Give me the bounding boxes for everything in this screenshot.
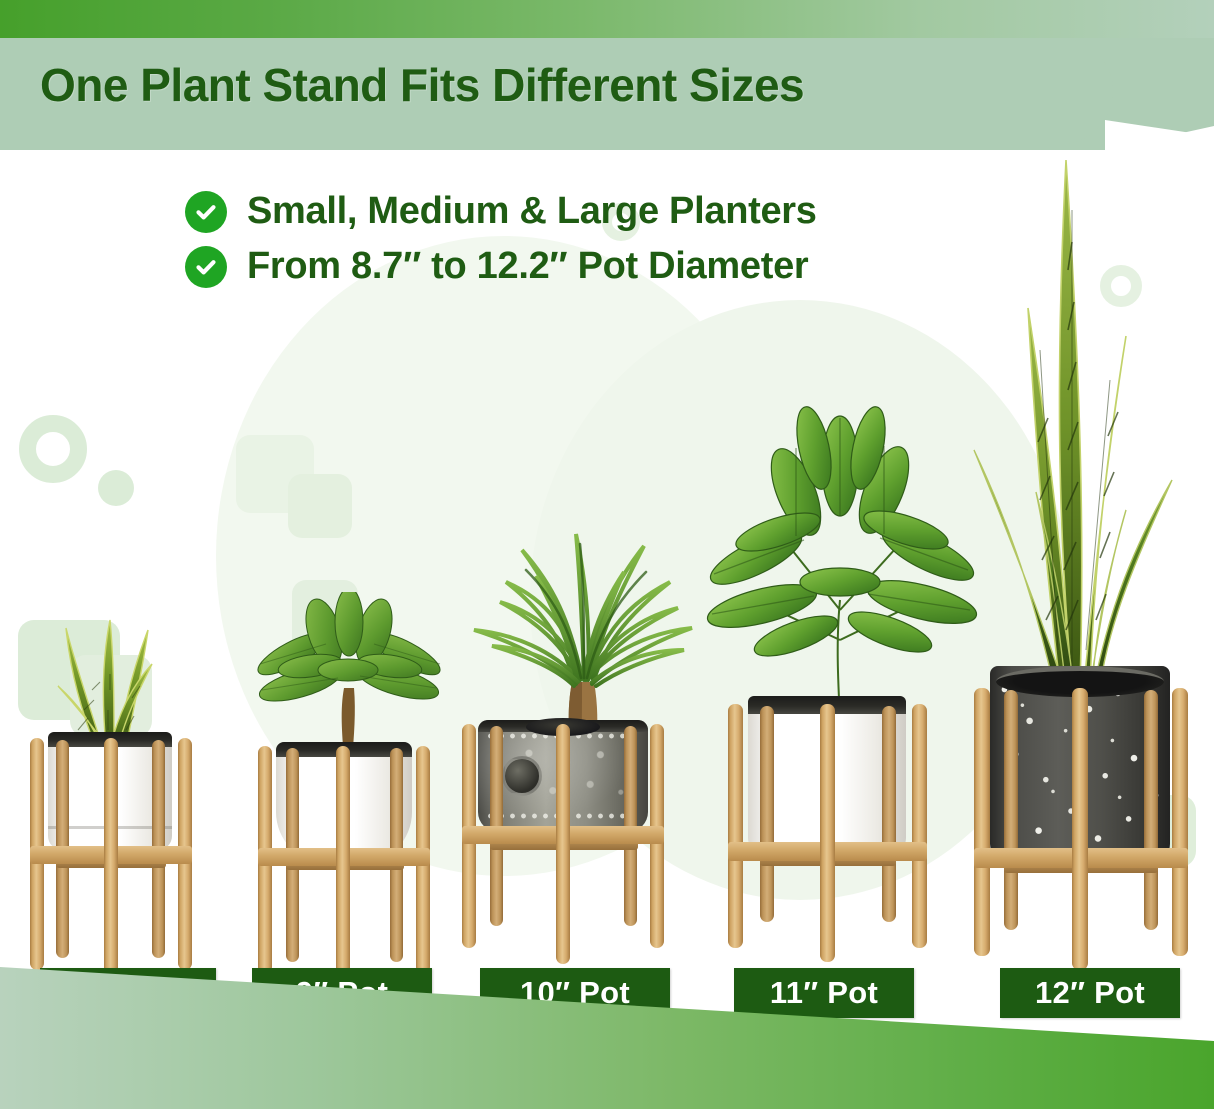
feature-list: Small, Medium & Large Planters From 8.7″…	[185, 190, 817, 300]
plant-money-tree	[700, 400, 980, 730]
check-circle-icon	[185, 191, 227, 233]
plant-snake-plant	[954, 150, 1212, 690]
feature-label: From 8.7″ to 12.2″ Pot Diameter	[247, 245, 808, 288]
size-label-4: 11″ Pot	[734, 968, 914, 1018]
stand-leg-back-right	[882, 706, 896, 922]
stand-leg-back-left	[760, 706, 774, 922]
stand-leg-front-right	[1172, 688, 1188, 956]
size-label-5: 12″ Pot	[1000, 968, 1180, 1018]
page-title: One Plant Stand Fits Different Sizes	[40, 58, 1090, 112]
stand-leg-center	[556, 724, 570, 964]
stand-leg-front-right	[912, 704, 927, 948]
pot-medallion	[502, 756, 542, 796]
stand-leg-back-left	[1004, 690, 1018, 930]
stand-leg-center	[104, 738, 118, 982]
plant-ponytail-palm	[448, 490, 718, 750]
stand-leg-center	[820, 704, 835, 962]
decorative-rounded-square	[236, 435, 314, 513]
decorative-ring	[19, 415, 87, 483]
top-gradient-bar	[0, 0, 1214, 38]
decorative-rounded-square	[288, 474, 352, 538]
feature-item-2: From 8.7″ to 12.2″ Pot Diameter	[185, 245, 817, 288]
product-stand-4	[690, 400, 980, 990]
stand-leg-center	[1072, 688, 1088, 970]
plant-snake-plant	[18, 590, 218, 750]
plant-money-tree	[240, 592, 460, 762]
product-stand-3	[440, 490, 720, 990]
product-stand-1	[0, 590, 240, 990]
feature-label: Small, Medium & Large Planters	[247, 190, 817, 233]
infographic-canvas: 8″ Pot	[0, 0, 1214, 1109]
stand-leg-back-right	[1144, 690, 1158, 930]
stand-leg-center	[336, 746, 350, 986]
product-stand-5	[950, 150, 1214, 990]
stand-leg-front-left	[728, 704, 743, 948]
feature-item-1: Small, Medium & Large Planters	[185, 190, 817, 233]
stand-leg-front-left	[974, 688, 990, 956]
decorative-dot	[98, 470, 134, 506]
check-circle-icon	[185, 246, 227, 288]
